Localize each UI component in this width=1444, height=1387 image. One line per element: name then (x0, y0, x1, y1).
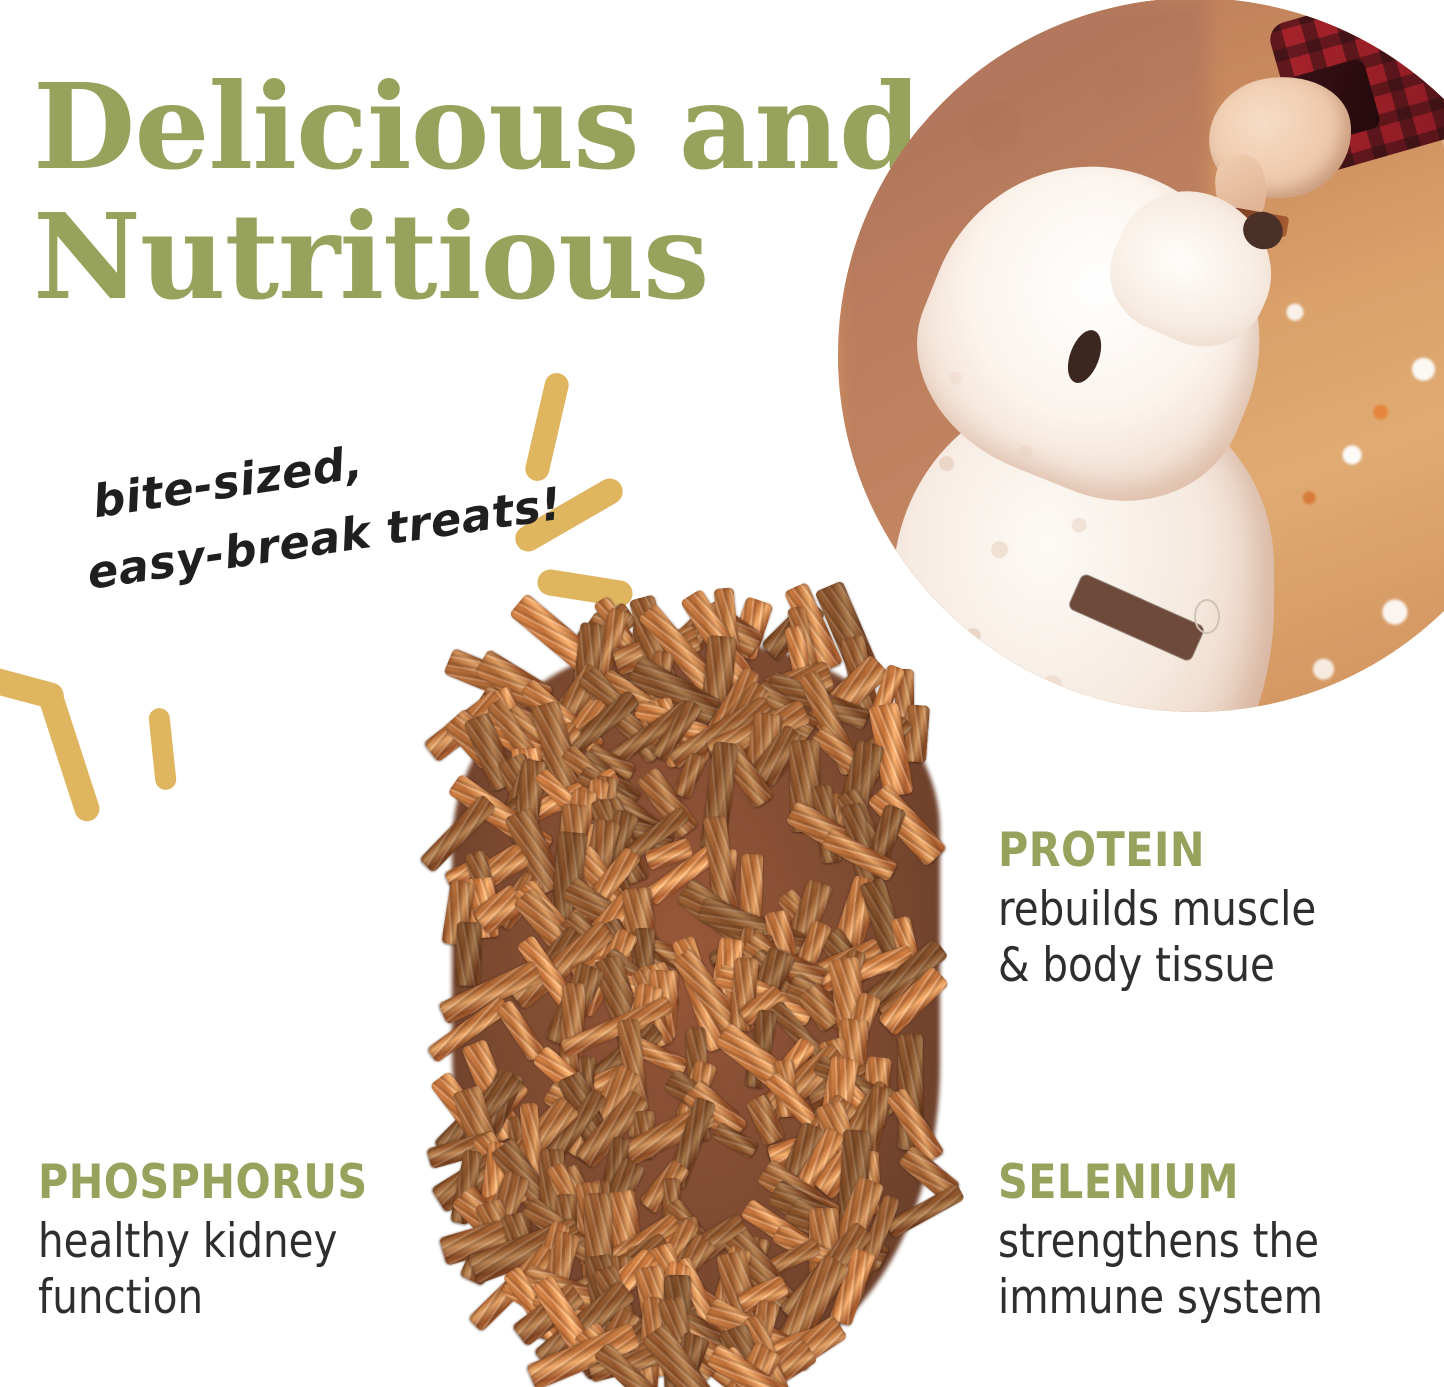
benefit-desc-line-1: rebuilds muscle (998, 882, 1444, 938)
headline-line-2: Nutritious (33, 192, 833, 322)
lifestyle-photo (838, 0, 1444, 712)
benefit-desc-line-2: immune system (998, 1270, 1444, 1326)
sparkle-stroke-icon (148, 707, 177, 791)
benefit-description: rebuilds muscle & body tissue (998, 882, 1444, 995)
benefit-description: healthy kidney function (38, 1214, 451, 1327)
benefit-description: strengthens the immune system (998, 1214, 1444, 1327)
benefit-title: PHOSPHORUS (38, 1158, 460, 1208)
treat-sticks (442, 626, 950, 1384)
page-title: Delicious and Nutritious (33, 62, 833, 322)
benefit-title: PROTEIN (998, 826, 1444, 876)
sparkle-stroke-icon (536, 568, 635, 609)
collar-tag-icon (1194, 599, 1220, 634)
benefit-desc-line-2: function (38, 1270, 451, 1326)
headline-line-1: Delicious and (33, 62, 833, 192)
benefit-title: SELENIUM (998, 1158, 1444, 1208)
treat-stick (885, 1183, 966, 1239)
benefit-desc-line-1: strengthens the (998, 1214, 1444, 1270)
benefit-desc-line-1: healthy kidney (38, 1214, 451, 1270)
benefit-selenium: SELENIUM strengthens the immune system (998, 1158, 1444, 1327)
benefit-protein: PROTEIN rebuilds muscle & body tissue (998, 826, 1444, 995)
treat-pile-icon (442, 626, 950, 1384)
treat-stick (455, 922, 482, 987)
product-infographic: Delicious and Nutritious bite-sized, eas… (0, 0, 1444, 1387)
benefit-desc-line-2: & body tissue (998, 938, 1444, 994)
photo-scene (838, 0, 1444, 712)
sparkle-stroke-icon (36, 686, 102, 825)
